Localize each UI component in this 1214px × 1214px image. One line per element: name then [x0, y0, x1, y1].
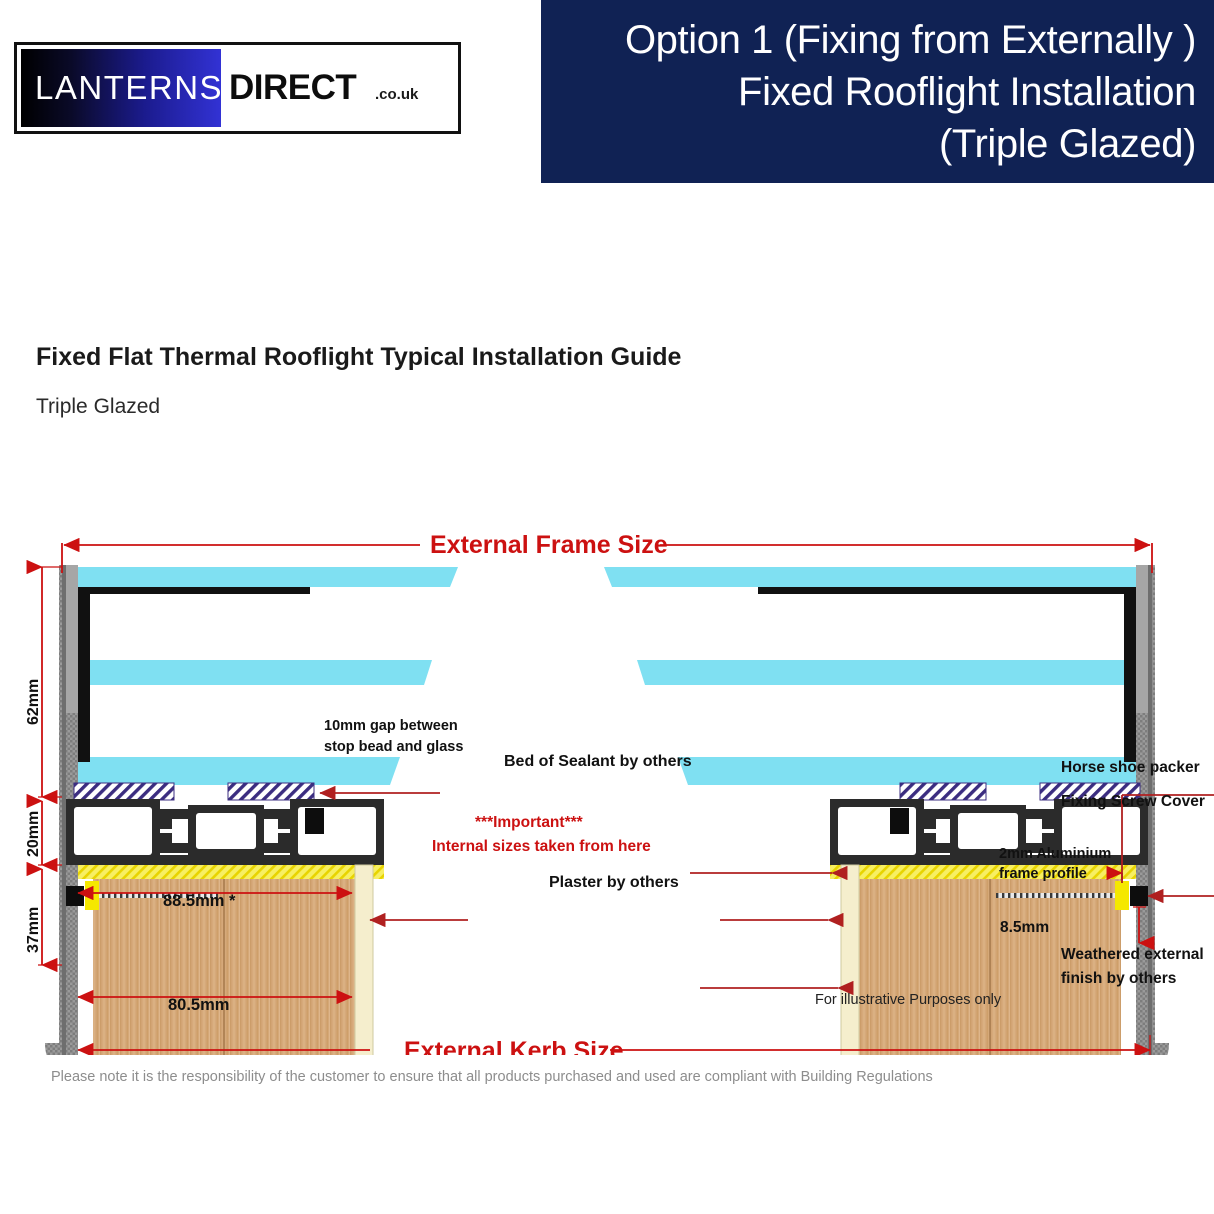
building-regs-disclaimer: Please note it is the responsibility of …	[51, 1069, 933, 1085]
dim-label-20mm: 20mm	[25, 811, 42, 857]
banner-line-3: (Triple Glazed)	[939, 118, 1196, 170]
installation-cross-section-diagram: External Frame Size External Kerb Size 6…	[0, 495, 1214, 1055]
logo-tld: .co.uk	[375, 86, 418, 103]
thermal-break-tl-left	[160, 809, 188, 829]
label-external-frame-size: External Frame Size	[430, 531, 668, 559]
logo-inner: LANTERNS DIRECT .co.uk	[17, 45, 458, 131]
stop-bead-right	[890, 808, 909, 834]
sealant-bed-left	[78, 865, 384, 879]
callout-fixing-screw-cover: Fixing Screw Cover	[1061, 793, 1205, 810]
callout-alu-line2: frame profile	[999, 866, 1087, 882]
thermal-break-br-left	[264, 833, 290, 853]
sealant-bed-right	[830, 865, 1136, 879]
thermal-break-tr2-right	[1026, 809, 1054, 829]
glass-spacer-vert-left	[78, 587, 90, 762]
page-subtitle: Triple Glazed	[36, 395, 160, 419]
dim-label-62mm: 62mm	[25, 679, 42, 725]
frame-base-left	[66, 855, 384, 865]
screw-cover-left	[66, 886, 84, 906]
horseshoe-packer-left	[85, 881, 99, 910]
thermal-break-tr-left	[264, 809, 290, 829]
glass-pane-middle-right	[637, 660, 1136, 685]
horseshoe-packer-right	[1115, 881, 1129, 910]
frame-middle-void-right	[958, 813, 1018, 849]
callout-weathered-line1: Weathered external	[1061, 946, 1204, 963]
glass-pane-middle-left	[78, 660, 432, 685]
alu-upstand-right	[1136, 565, 1148, 713]
page-title: Fixed Flat Thermal Rooflight Typical Ins…	[36, 343, 681, 372]
banner-line-2: Fixed Rooflight Installation	[738, 66, 1196, 118]
thermal-break-tl2-right	[924, 809, 950, 829]
logo-word-lanterns: LANTERNS	[35, 69, 223, 107]
left-section-assembly	[45, 565, 458, 1055]
glazing-tape-inner-right	[900, 783, 986, 800]
dim-label-8-5mm: 8.5mm	[1000, 919, 1049, 936]
callout-important-line1: ***Important***	[475, 814, 584, 831]
alu-edge-left	[62, 565, 66, 1055]
callout-alu-line1: 2mm Aluminium	[999, 846, 1111, 862]
glazing-tape-inner-left	[228, 783, 314, 800]
glass-pane-outer-left	[78, 567, 458, 587]
frame-outer-void-left	[74, 807, 152, 855]
glass-pane-inner-left	[78, 757, 400, 785]
label-external-kerb-size: External Kerb Size	[404, 1037, 624, 1055]
stop-bead-left	[305, 808, 324, 834]
frame-middle-void-left	[196, 813, 256, 849]
screw-cover-right	[1130, 886, 1148, 906]
callout-weathered-line2: finish by others	[1061, 970, 1176, 987]
callout-stop-bead-line2: stop bead and glass	[324, 739, 463, 755]
title-banner: Option 1 (Fixing from Externally ) Fixed…	[541, 0, 1214, 183]
banner-line-1: Option 1 (Fixing from Externally )	[625, 14, 1196, 66]
thermal-break-bl-left	[160, 833, 188, 853]
callout-horseshoe-packer: Horse shoe packer	[1061, 759, 1200, 776]
callout-plaster: Plaster by others	[549, 874, 679, 891]
glazing-tape-outer-left	[74, 783, 174, 800]
glass-pane-outer-right	[604, 567, 1136, 587]
plaster-right	[841, 865, 859, 1055]
logo-word-direct: DIRECT	[229, 68, 356, 108]
note-illustrative: For illustrative Purposes only	[815, 992, 1002, 1008]
dim-label-80-5mm: 80.5mm	[168, 996, 229, 1014]
glass-spacer-top-right	[758, 587, 1136, 594]
callout-important-line2: Internal sizes taken from here	[432, 838, 651, 855]
glass-spacer-vert-right	[1124, 587, 1136, 762]
callout-bed-of-sealant: Bed of Sealant by others	[504, 753, 692, 770]
alu-upstand-left	[66, 565, 78, 713]
glass-spacer-top-left	[78, 587, 310, 594]
plaster-left	[355, 865, 373, 1055]
dim-label-88-5mm: 88.5mm *	[163, 892, 236, 910]
callout-stop-bead-line1: 10mm gap between	[324, 718, 458, 734]
thermal-break-bl2-right	[924, 833, 950, 853]
brand-logo: LANTERNS DIRECT .co.uk	[14, 42, 461, 134]
dim-label-37mm: 37mm	[25, 907, 42, 953]
screw-shaft-right	[996, 893, 1116, 898]
